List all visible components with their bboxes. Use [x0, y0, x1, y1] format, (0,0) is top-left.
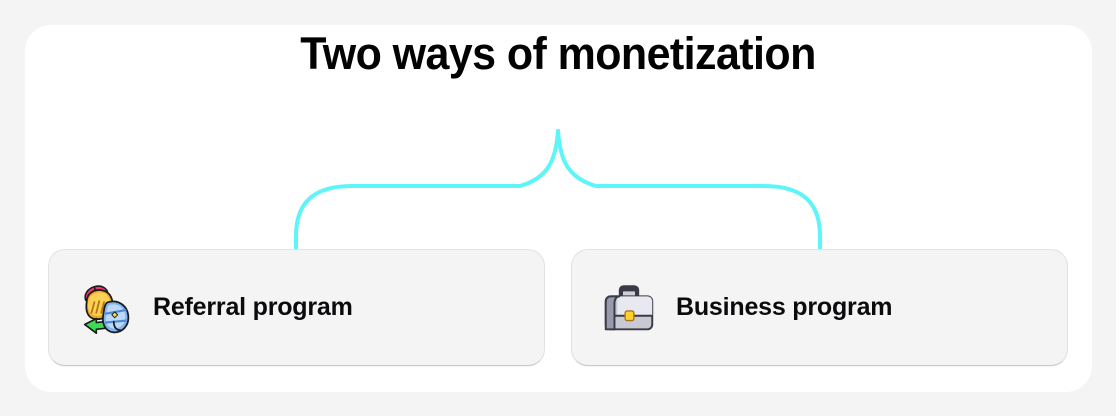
knight-helmet-icon — [75, 277, 137, 339]
program-cards: Referral program Business program — [48, 249, 1068, 366]
page-title: Two ways of monetization — [25, 26, 1091, 82]
card-referral-program[interactable]: Referral program — [48, 249, 545, 366]
card-business-program[interactable]: Business program — [571, 249, 1068, 366]
card-label-referral-program: Referral program — [153, 293, 353, 322]
briefcase-icon — [598, 277, 660, 339]
card-label-business-program: Business program — [676, 293, 892, 322]
